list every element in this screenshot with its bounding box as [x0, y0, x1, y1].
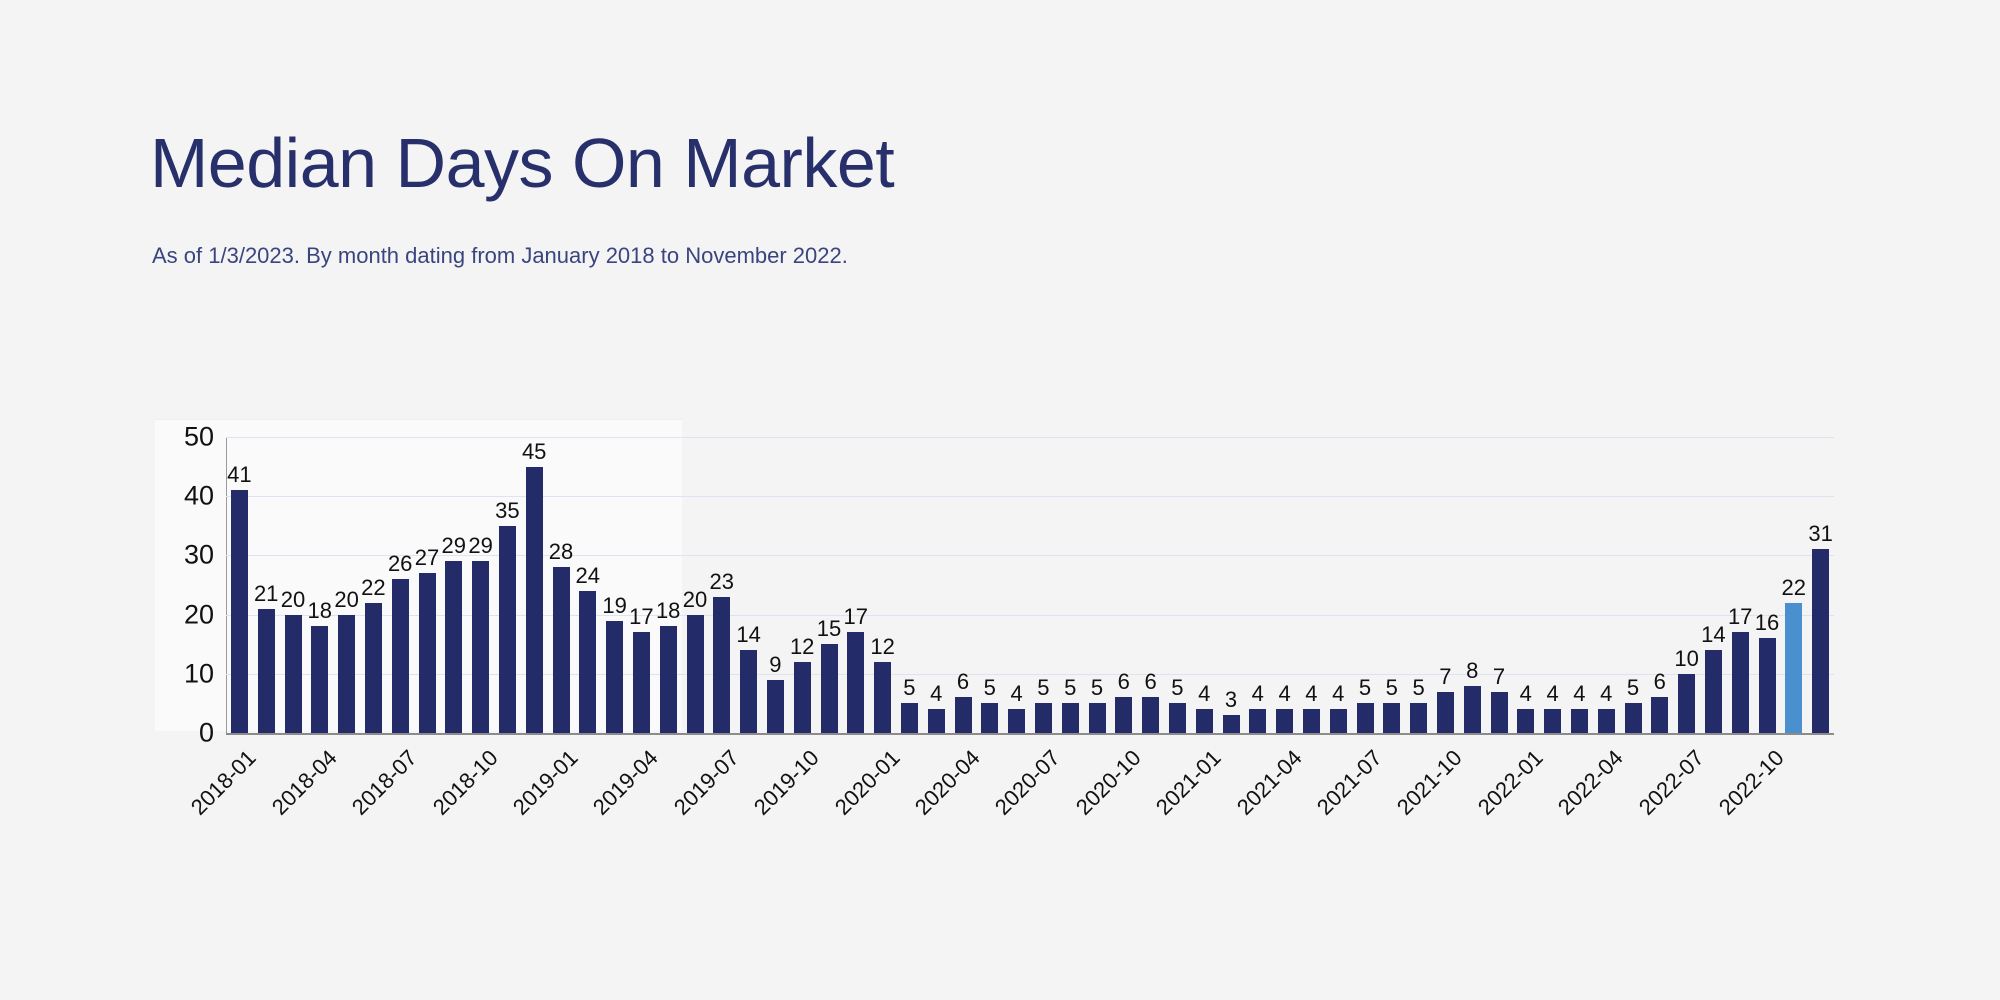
y-axis-tick-label: 30 — [148, 540, 214, 571]
x-axis-tick-label: 2018-10 — [427, 745, 502, 820]
bar[interactable] — [901, 703, 918, 733]
bar-value-label: 4 — [1252, 681, 1264, 707]
bar-value-label: 31 — [1808, 521, 1832, 547]
x-axis-tick-label: 2021-01 — [1151, 745, 1226, 820]
y-axis-tick-label: 50 — [148, 422, 214, 453]
bar-value-label: 5 — [1064, 675, 1076, 701]
bar-value-label: 7 — [1493, 664, 1505, 690]
bar[interactable] — [1678, 674, 1695, 733]
bar-value-label: 6 — [1118, 669, 1130, 695]
x-axis-tick-label: 2020-04 — [910, 745, 985, 820]
bar-value-label: 6 — [957, 669, 969, 695]
bar-value-label: 4 — [1520, 681, 1532, 707]
bar[interactable] — [1062, 703, 1079, 733]
bar[interactable] — [1249, 709, 1266, 733]
y-axis-tick-label: 10 — [148, 658, 214, 689]
x-axis-tick-label: 2022-01 — [1473, 745, 1548, 820]
x-axis-tick-label: 2021-10 — [1392, 745, 1467, 820]
bar[interactable] — [1732, 632, 1749, 733]
bar[interactable] — [821, 644, 838, 733]
bar[interactable] — [847, 632, 864, 733]
bar-chart: 4121201820222627292935452824191718202314… — [0, 0, 2000, 1000]
bar[interactable] — [1357, 703, 1374, 733]
bar-value-label: 4 — [930, 681, 942, 707]
gridline-10 — [226, 674, 1834, 675]
x-axis-tick-label: 2021-07 — [1312, 745, 1387, 820]
bar[interactable] — [1142, 697, 1159, 733]
bar-value-label: 35 — [495, 498, 519, 524]
gridline-40 — [226, 496, 1834, 497]
bar[interactable] — [740, 650, 757, 733]
bar[interactable] — [767, 680, 784, 733]
bar-value-label: 4 — [1278, 681, 1290, 707]
bar-value-label: 16 — [1755, 610, 1779, 636]
x-axis-tick-label: 2019-10 — [749, 745, 824, 820]
y-axis-tick-label: 40 — [148, 481, 214, 512]
bar[interactable] — [1276, 709, 1293, 733]
x-axis-tick-label: 2022-10 — [1714, 745, 1789, 820]
x-axis-tick-label: 2022-07 — [1633, 745, 1708, 820]
bar-value-label: 22 — [361, 575, 385, 601]
bar-value-label: 29 — [442, 533, 466, 559]
bar-value-label: 4 — [1600, 681, 1612, 707]
bar[interactable] — [1035, 703, 1052, 733]
bar-value-label: 5 — [1412, 675, 1424, 701]
bar[interactable] — [1008, 709, 1025, 733]
bar[interactable] — [526, 467, 543, 733]
gridline-0 — [226, 733, 1834, 735]
bar[interactable] — [1169, 703, 1186, 733]
x-axis-tick-label: 2019-07 — [669, 745, 744, 820]
x-axis-tick-label: 2021-04 — [1231, 745, 1306, 820]
bar[interactable] — [1785, 603, 1802, 733]
bar-value-label: 5 — [1359, 675, 1371, 701]
bar-value-label: 9 — [769, 652, 781, 678]
x-axis-tick-label: 2020-07 — [990, 745, 1065, 820]
bar[interactable] — [606, 621, 623, 733]
bar[interactable] — [1410, 703, 1427, 733]
bar[interactable] — [1491, 692, 1508, 733]
bar[interactable] — [1303, 709, 1320, 733]
x-axis-tick-label: 2019-01 — [508, 745, 583, 820]
bar-value-label: 15 — [817, 616, 841, 642]
bar-value-label: 5 — [903, 675, 915, 701]
bar-value-label: 5 — [1386, 675, 1398, 701]
bar-value-label: 17 — [1728, 604, 1752, 630]
bar[interactable] — [1544, 709, 1561, 733]
bar[interactable] — [1625, 703, 1642, 733]
bar-value-label: 8 — [1466, 658, 1478, 684]
bar-value-label: 7 — [1439, 664, 1451, 690]
bar-value-label: 5 — [1091, 675, 1103, 701]
bar[interactable] — [1196, 709, 1213, 733]
bar-value-label: 14 — [736, 622, 760, 648]
x-axis-tick-label: 2018-04 — [267, 745, 342, 820]
bar-value-label: 24 — [576, 563, 600, 589]
bar-value-label: 4 — [1546, 681, 1558, 707]
bar[interactable] — [955, 697, 972, 733]
bar[interactable] — [1705, 650, 1722, 733]
bar[interactable] — [1089, 703, 1106, 733]
bar[interactable] — [1598, 709, 1615, 733]
bar[interactable] — [633, 632, 650, 733]
bar-value-label: 6 — [1144, 669, 1156, 695]
bar[interactable] — [1651, 697, 1668, 733]
bar-value-label: 12 — [790, 634, 814, 660]
bar[interactable] — [1759, 638, 1776, 733]
bar[interactable] — [445, 561, 462, 733]
bar[interactable] — [928, 709, 945, 733]
bar-value-label: 10 — [1674, 646, 1698, 672]
bar-value-label: 20 — [334, 587, 358, 613]
bar-value-label: 6 — [1654, 669, 1666, 695]
bar-value-label: 21 — [254, 581, 278, 607]
bar-value-label: 45 — [522, 439, 546, 465]
bar[interactable] — [285, 615, 302, 733]
bar[interactable] — [874, 662, 891, 733]
bar-value-label: 26 — [388, 551, 412, 577]
x-axis-tick-label: 2022-04 — [1553, 745, 1628, 820]
bar[interactable] — [258, 609, 275, 733]
y-axis-tick-label: 20 — [148, 599, 214, 630]
bar-value-label: 4 — [1332, 681, 1344, 707]
bar[interactable] — [365, 603, 382, 733]
x-axis-tick-label: 2018-01 — [186, 745, 261, 820]
bar[interactable] — [419, 573, 436, 733]
bar-value-label: 22 — [1782, 575, 1806, 601]
bar[interactable] — [1223, 715, 1240, 733]
bar[interactable] — [1464, 686, 1481, 733]
x-axis-tick-label: 2020-10 — [1071, 745, 1146, 820]
gridline-20 — [226, 615, 1834, 616]
bar-value-label: 29 — [468, 533, 492, 559]
bar-value-label: 5 — [984, 675, 996, 701]
bar[interactable] — [579, 591, 596, 733]
bar[interactable] — [713, 597, 730, 733]
bar[interactable] — [981, 703, 998, 733]
x-axis-tick-label: 2018-07 — [347, 745, 422, 820]
bar-value-label: 19 — [602, 593, 626, 619]
bar-value-label: 20 — [281, 587, 305, 613]
bar-value-label: 5 — [1037, 675, 1049, 701]
x-axis-tick-label: 2020-01 — [829, 745, 904, 820]
bar-value-label: 3 — [1225, 687, 1237, 713]
bar-value-label: 12 — [870, 634, 894, 660]
x-axis-tick-label: 2019-04 — [588, 745, 663, 820]
plot-area: 4121201820222627292935452824191718202314… — [226, 437, 1834, 733]
bar[interactable] — [553, 567, 570, 733]
bar-value-label: 5 — [1171, 675, 1183, 701]
bar-value-label: 4 — [1573, 681, 1585, 707]
gridline-50 — [226, 437, 1834, 438]
bar-value-label: 18 — [656, 598, 680, 624]
bar-value-label: 27 — [415, 545, 439, 571]
bar[interactable] — [1517, 709, 1534, 733]
bar-value-label: 18 — [308, 598, 332, 624]
bar[interactable] — [1330, 709, 1347, 733]
bar-value-label: 28 — [549, 539, 573, 565]
bar-value-label: 17 — [629, 604, 653, 630]
bar[interactable] — [338, 615, 355, 733]
bar[interactable] — [1437, 692, 1454, 733]
bar[interactable] — [660, 626, 677, 733]
chart-page: Median Days On Market As of 1/3/2023. By… — [0, 0, 2000, 1000]
bar[interactable] — [687, 615, 704, 733]
bar[interactable] — [499, 526, 516, 733]
bar[interactable] — [1571, 709, 1588, 733]
bar-value-label: 4 — [1198, 681, 1210, 707]
bar-value-label: 23 — [710, 569, 734, 595]
bar[interactable] — [472, 561, 489, 733]
bar-value-label: 17 — [844, 604, 868, 630]
bar-value-label: 14 — [1701, 622, 1725, 648]
bar[interactable] — [1383, 703, 1400, 733]
gridline-30 — [226, 555, 1834, 556]
bar-value-label: 41 — [227, 462, 251, 488]
bar-value-label: 4 — [1010, 681, 1022, 707]
bar[interactable] — [1115, 697, 1132, 733]
bar-value-label: 5 — [1627, 675, 1639, 701]
bar[interactable] — [231, 490, 248, 733]
bar-value-label: 4 — [1305, 681, 1317, 707]
bar[interactable] — [794, 662, 811, 733]
bar[interactable] — [311, 626, 328, 733]
bar[interactable] — [1812, 549, 1829, 733]
bar[interactable] — [392, 579, 409, 733]
y-axis-tick-label: 0 — [148, 718, 214, 749]
bar-value-label: 20 — [683, 587, 707, 613]
